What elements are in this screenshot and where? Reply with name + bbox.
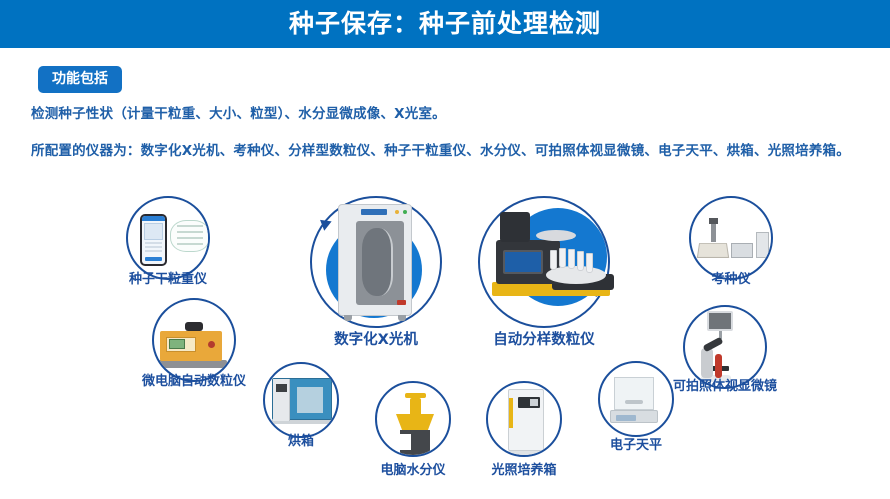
device-circle	[263, 362, 339, 438]
page-title: 种子保存：种子前处理检测	[289, 0, 601, 48]
slide-canvas: 种子保存：种子前处理检测 功能包括 检测种子性状（计量干粒重、大小、粒型）、水分…	[0, 0, 890, 499]
xray-machine-icon	[338, 204, 412, 316]
device-circle	[375, 381, 451, 457]
device-label-seed-weight: 种子干粒重仪	[129, 268, 207, 287]
device-label-auto-sample-counter: 自动分样数粒仪	[493, 328, 595, 349]
light-incubator-icon	[508, 389, 544, 456]
device-circle	[598, 361, 674, 437]
device-label-moisture-meter: 电脑水分仪	[380, 459, 445, 478]
drying-oven-icon	[272, 378, 334, 424]
device-label-light-incubator: 光照培养箱	[491, 459, 556, 478]
phone-seed-weight-icon	[140, 214, 167, 266]
device-label-drying-oven: 烘箱	[288, 430, 314, 449]
slide-header: 种子保存：种子前处理检测	[0, 0, 890, 48]
description-paragraph-2: 所配置的仪器为：数字化X光机、考种仪、分样型数粒仪、种子干粒重仪、水分仪、可拍照…	[31, 140, 866, 162]
device-label-microscope: 可拍照体视显微镜	[673, 375, 777, 394]
seed-data-card-icon	[170, 220, 210, 252]
moisture-meter-icon	[396, 393, 434, 457]
description-paragraph-1: 检测种子性状（计量干粒重、大小、粒型）、水分显微成像、X光室。	[31, 103, 861, 125]
microscope-icon	[707, 311, 733, 339]
section-badge: 功能包括	[38, 66, 122, 93]
seed-test-bench-icon	[698, 218, 769, 258]
device-label-electronic-balance: 电子天平	[610, 434, 662, 453]
auto-sample-seed-counter-icon	[492, 282, 610, 296]
device-label-microcomputer-counter: 微电脑自动数粒仪	[142, 370, 246, 389]
device-label-xray-machine: 数字化X光机	[334, 328, 418, 349]
microcomputer-seed-counter-icon	[160, 322, 227, 368]
device-label-seed-test-bench: 考种仪	[711, 268, 750, 287]
electronic-balance-icon	[614, 377, 658, 423]
device-circle	[486, 381, 562, 457]
